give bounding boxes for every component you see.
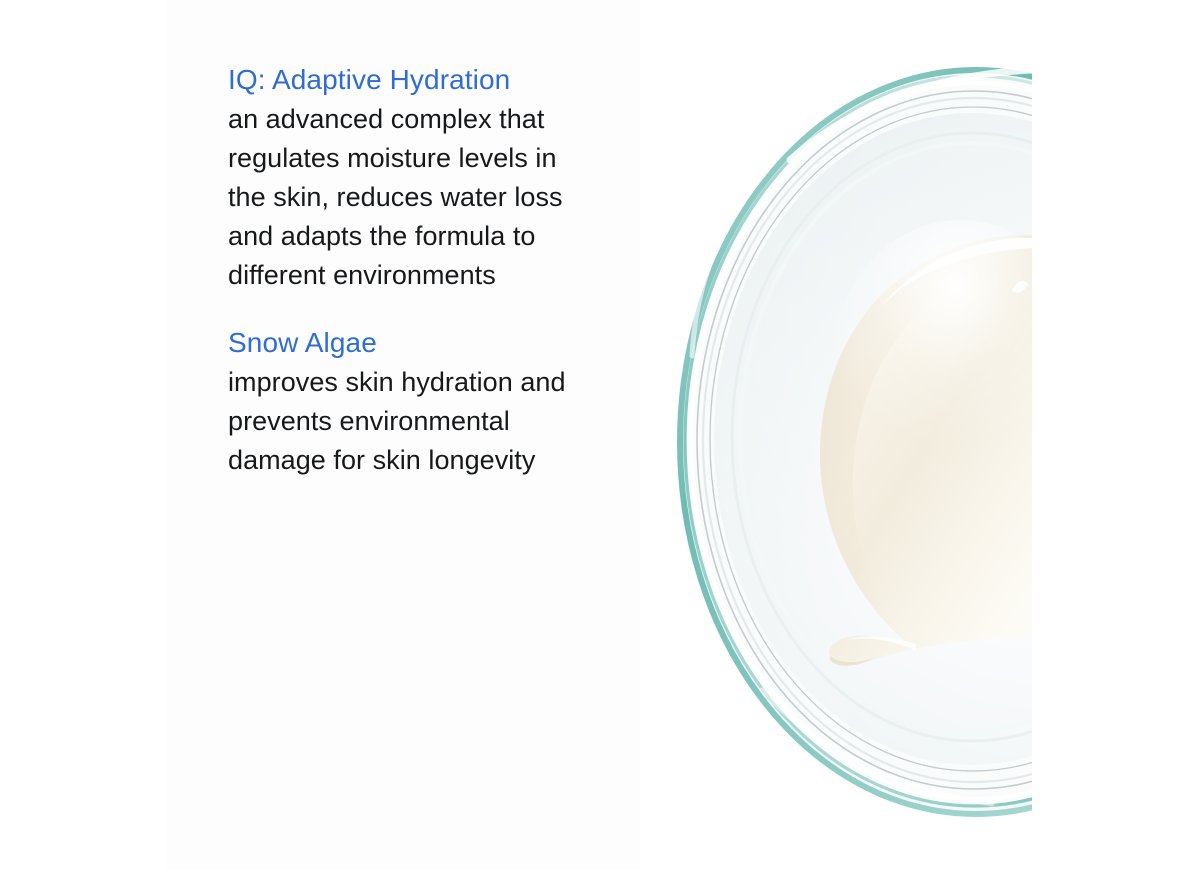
ingredient-description-snow-algae: improves skin hydration and prevents env… xyxy=(228,363,678,480)
description-line: damage for skin longevity xyxy=(228,441,678,480)
description-line: and adapts the formula to xyxy=(228,217,678,256)
ingredient-heading-snow-algae: Snow Algae xyxy=(228,323,678,362)
description-line: different environments xyxy=(228,256,678,295)
ingredient-heading-iq-adaptive-hydration: IQ: Adaptive Hydration xyxy=(228,60,678,99)
description-line: the skin, reduces water loss xyxy=(228,178,678,217)
ingredient-block-snow-algae: Snow Algae improves skin hydration and p… xyxy=(228,323,678,480)
description-line: regulates moisture levels in xyxy=(228,139,678,178)
description-line: improves skin hydration and xyxy=(228,363,678,402)
ingredient-description-iq-adaptive-hydration: an advanced complex that regulates moist… xyxy=(228,100,678,295)
petri-dish-illustration xyxy=(640,0,1032,870)
description-line: an advanced complex that xyxy=(228,100,678,139)
product-photo xyxy=(640,0,1200,870)
ingredient-text-column: IQ: Adaptive Hydration an advanced compl… xyxy=(228,60,678,480)
description-line: prevents environmental xyxy=(228,402,678,441)
promo-canvas: IQ: Adaptive Hydration an advanced compl… xyxy=(0,0,1200,870)
product-photo-clip xyxy=(640,0,1032,870)
ingredient-block-iq-adaptive-hydration: IQ: Adaptive Hydration an advanced compl… xyxy=(228,60,678,295)
